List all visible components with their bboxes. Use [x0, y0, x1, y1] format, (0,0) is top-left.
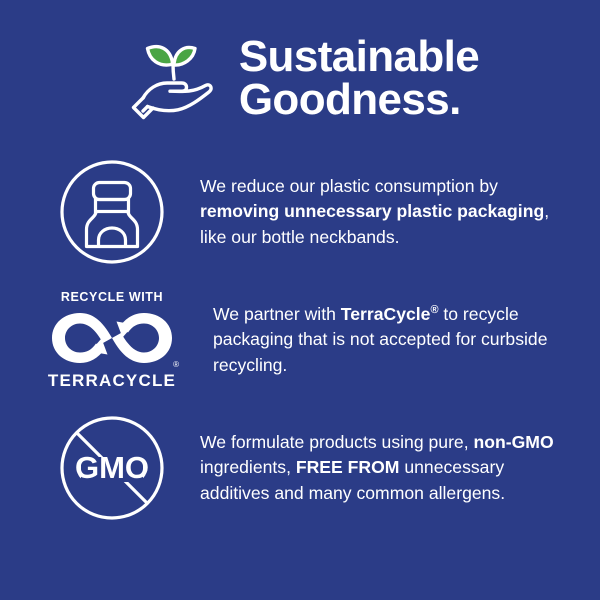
- text-part: We reduce our plastic consumption by: [200, 176, 498, 196]
- title-line-1: Sustainable: [239, 35, 479, 78]
- text-part: We formulate products using pure,: [200, 432, 474, 452]
- title-line-2: Goodness.: [239, 78, 479, 121]
- terracycle-top-label: RECYCLE WITH: [61, 290, 163, 304]
- benefit-text-plastic: We reduce our plastic consumption by rem…: [172, 174, 572, 251]
- header: Sustainable Goodness.: [0, 0, 600, 130]
- text-part-bold: TerraCycle: [341, 304, 431, 324]
- hand-holding-sprout-icon: [121, 26, 225, 130]
- terracycle-logo: RECYCLE WITH ® TERRACYCLE: [39, 290, 185, 391]
- benefit-rows: We reduce our plastic consumption by rem…: [0, 148, 600, 532]
- text-part: We partner with: [213, 304, 341, 324]
- text-part-bold: FREE FROM: [296, 457, 400, 477]
- infinity-recycle-arrows-icon: ®: [46, 307, 178, 369]
- benefit-row-terracycle: RECYCLE WITH ® TERRACYCLE We partner wit…: [0, 276, 600, 404]
- benefit-row-gmo: GMO GMO We formulate products using pure…: [0, 404, 600, 532]
- text-part: ingredients,: [200, 457, 296, 477]
- no-gmo-circle-icon: GMO GMO: [52, 412, 172, 524]
- text-part-bold: non-GMO: [474, 432, 554, 452]
- benefit-text-gmo: We formulate products using pure, non-GM…: [172, 430, 572, 507]
- terracycle-bottom-label: TERRACYCLE: [48, 371, 176, 391]
- page-title: Sustainable Goodness.: [239, 35, 479, 121]
- benefit-text-terracycle: We partner with TerraCycle® to recycle p…: [185, 302, 585, 379]
- text-part-bold: removing unnecessary plastic packaging: [200, 201, 544, 221]
- svg-text:GMO: GMO: [75, 450, 149, 485]
- registered-mark: ®: [173, 361, 179, 369]
- bottle-neckband-circle-icon: [52, 156, 172, 268]
- benefit-row-plastic: We reduce our plastic consumption by rem…: [0, 148, 600, 276]
